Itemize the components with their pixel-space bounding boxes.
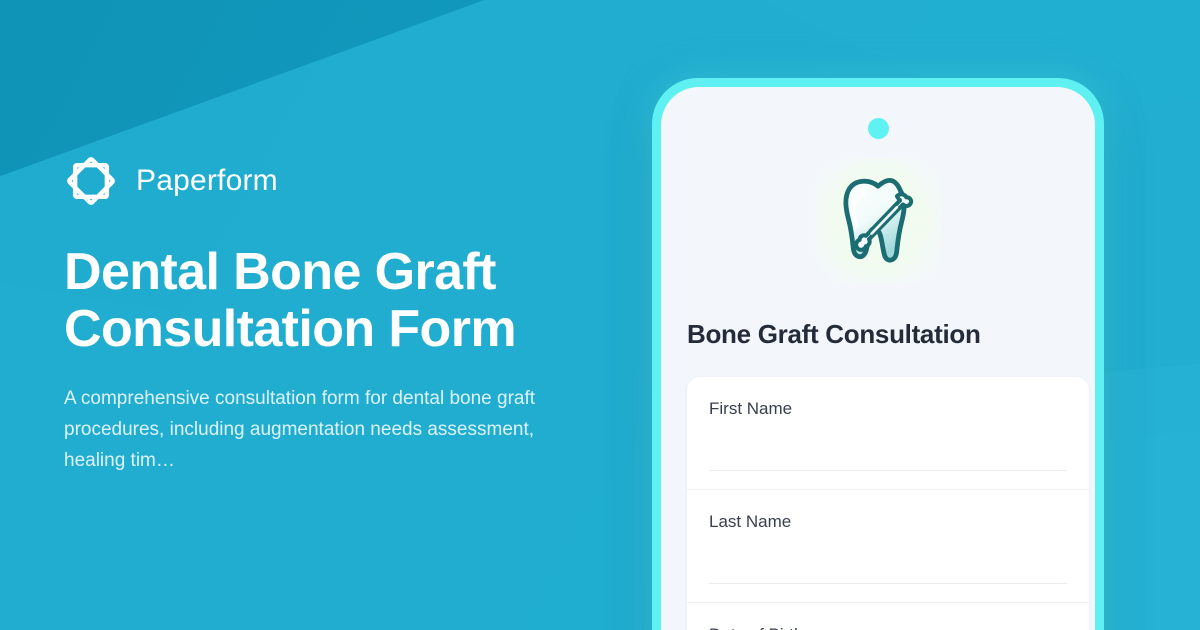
paperform-star-logo-icon <box>64 154 118 208</box>
field-label-last-name: Last Name <box>709 512 1067 532</box>
camera-dot-icon <box>868 118 889 139</box>
phone-mockup: Bone Graft Consultation First Name Last … <box>652 78 1104 630</box>
phone-screen: Bone Graft Consultation First Name Last … <box>661 87 1095 630</box>
hero-content: Paperform Dental Bone Graft Consultation… <box>64 0 624 630</box>
field-underline <box>709 470 1067 471</box>
form-field-last-name[interactable]: Last Name <box>687 490 1089 603</box>
tooth-with-bone-icon <box>826 169 930 273</box>
page-title: Dental Bone Graft Consultation Form <box>64 244 584 358</box>
field-label-date-of-birth: Date of Birth <box>709 625 1067 630</box>
og-image-canvas: Paperform Dental Bone Graft Consultation… <box>0 0 1200 630</box>
field-underline <box>709 583 1067 584</box>
brand-name: Paperform <box>136 166 278 196</box>
form-card: First Name Last Name Date of Birth <box>687 377 1089 630</box>
form-field-date-of-birth[interactable]: Date of Birth <box>687 603 1089 630</box>
form-icon <box>815 158 941 284</box>
form-field-first-name[interactable]: First Name <box>687 377 1089 490</box>
page-description: A comprehensive consultation form for de… <box>64 384 594 476</box>
form-title: Bone Graft Consultation <box>687 319 1075 350</box>
field-label-first-name: First Name <box>709 399 1067 419</box>
brand-lockup: Paperform <box>64 154 624 208</box>
